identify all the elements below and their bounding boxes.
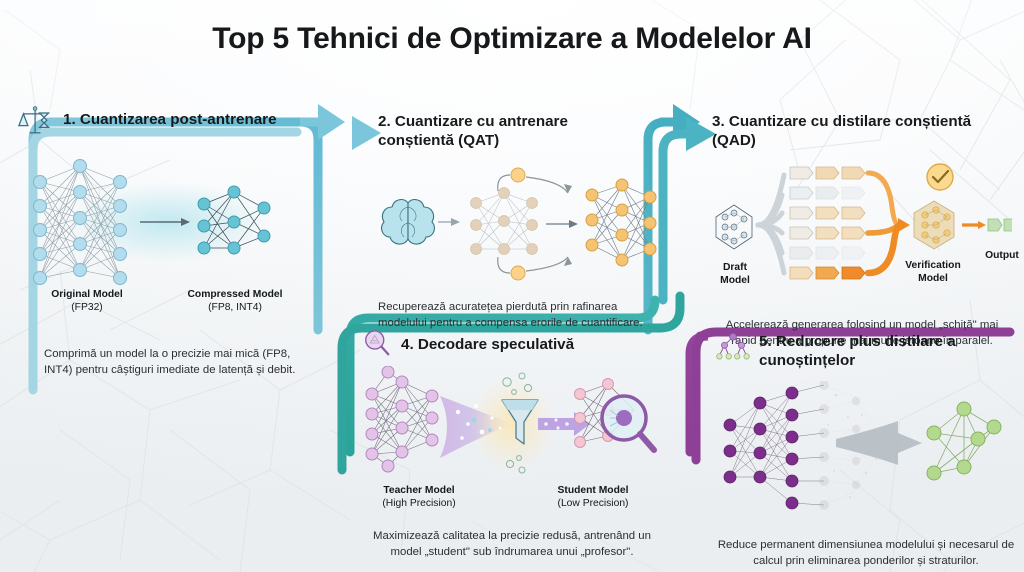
label-text: Teacher Model — [364, 484, 474, 497]
panel-1-label-original: Original Model (FP32) — [32, 288, 142, 315]
panel-5-diagram — [716, 381, 1016, 521]
panel-1-caption: Comprimă un model la o precizie mai mică… — [18, 346, 316, 378]
panel-4-title: 4. Decodare speculativă — [401, 330, 574, 354]
panel-3[interactable]: 3. Cuantizare cu distilare conștientă (Q… — [712, 110, 1012, 349]
draft-model-icon — [716, 205, 752, 249]
label-text: Draft — [710, 261, 760, 274]
panel-2-diagram — [378, 165, 668, 285]
panel-4-label-student: Student Model (Low Precision) — [538, 484, 648, 511]
panel-5-title: 5. Reducere plus distilare a cunoștințel… — [759, 330, 1009, 371]
label-text: Original Model — [32, 288, 142, 301]
page-title: Top 5 Tehnici de Optimizare a Modelelor … — [0, 22, 1024, 56]
check-badge-icon — [927, 164, 953, 190]
magnifier-icon — [362, 328, 392, 358]
label-sub: (FP32) — [32, 301, 142, 314]
panel-4-label-teacher: Teacher Model (High Precision) — [364, 484, 474, 511]
panel-1[interactable]: 1. Cuantizarea post-antrenare — [18, 108, 328, 378]
panel-4[interactable]: 4. Decodare speculativă — [362, 330, 662, 560]
panel-3-label-draft: Draft Model — [710, 261, 760, 288]
label-sub: Model — [890, 272, 976, 285]
brain-icon — [382, 199, 435, 244]
label-sub: (High Precision) — [364, 497, 474, 510]
panel-1-diagram: Original Model (FP32) Compressed Model (… — [18, 152, 328, 302]
panel-3-title: 3. Cuantizare cu distilare conștientă (Q… — [712, 110, 972, 151]
panel-3-label-verification: Verification Model — [890, 259, 976, 286]
label-sub: Model — [710, 274, 760, 287]
token-rows — [790, 167, 865, 279]
label-text: Output — [976, 249, 1024, 262]
panel-2[interactable]: 2. Cuantizare cu antrenare conștientă (Q… — [378, 110, 668, 331]
panel-2-caption: Recuperează acuratețea pierdută prin raf… — [378, 299, 666, 331]
panel-4-diagram: Teacher Model (High Precision) Student M… — [362, 366, 662, 486]
label-sub: (Low Precision) — [538, 497, 648, 510]
infographic-canvas: Top 5 Tehnici de Optimizare a Modelelor … — [0, 0, 1024, 572]
panel-1-label-compressed: Compressed Model (FP8, INT4) — [170, 288, 300, 315]
panel-3-diagram: Draft Model Verification Model Output — [712, 161, 1012, 291]
panel-2-title: 2. Cuantizare cu antrenare conștientă (Q… — [378, 110, 628, 151]
magnifier-overlay-icon — [602, 396, 654, 450]
panel-1-title: 1. Cuantizarea post-antrenare — [63, 108, 277, 129]
verification-model-icon — [914, 201, 954, 249]
panel-4-caption: Maximizează calitatea la precizie redusă… — [362, 528, 662, 560]
panel-5[interactable]: 5. Reducere plus distilare a cunoștințel… — [716, 330, 1016, 569]
scales-hourglass-icon — [18, 104, 54, 140]
tree-hierarchy-icon — [716, 330, 750, 364]
label-text: Compressed Model — [170, 288, 300, 301]
label-text: Student Model — [538, 484, 648, 497]
label-text: Verification — [890, 259, 976, 272]
panel-5-caption: Reduce permanent dimensiunea modelului ș… — [716, 537, 1016, 569]
panel-3-label-output: Output — [976, 249, 1024, 262]
label-sub: (FP8, INT4) — [170, 301, 300, 314]
